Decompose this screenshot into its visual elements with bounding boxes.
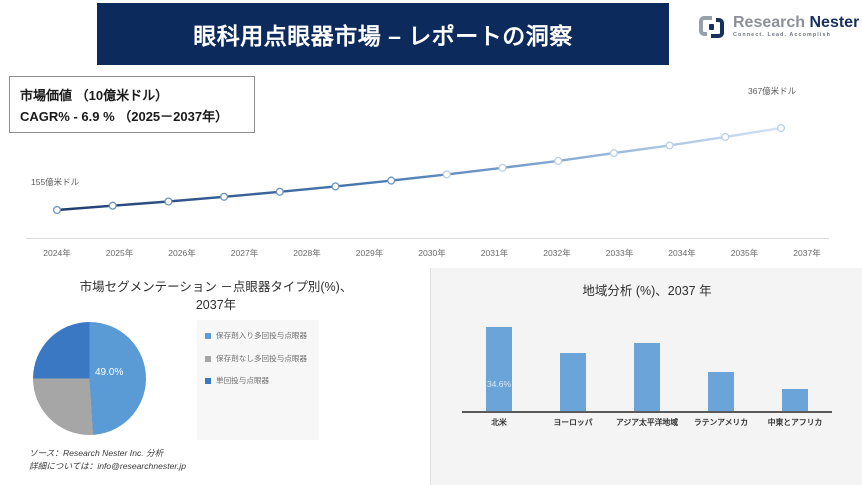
year-tick-label: 2035年: [731, 247, 758, 259]
line-chart-year-labels: 2024年2025年2026年2027年2028年2029年2030年2031年…: [26, 247, 829, 263]
year-tick-label: 2028年: [293, 247, 320, 259]
logo-mark-icon: [697, 14, 726, 40]
line-chart-end-value: 367億米ドル: [748, 85, 796, 97]
logo-word-nester: Nester: [810, 14, 860, 31]
legend-item-label: 保存剤なし多回投与点眼器: [216, 353, 307, 365]
bar-value-label: 34.6%: [487, 379, 511, 389]
page-title: 眼科用点眼器市場 – レポートの洞察: [193, 17, 573, 51]
infographic-page: 眼科用点眼器市場 – レポートの洞察 Research Nester Conne…: [0, 0, 862, 485]
bar-chart-axis: [462, 411, 832, 413]
legend-item[interactable]: 保存剤入り多回投与点眼器: [205, 330, 311, 342]
year-tick-label: 2037年: [793, 247, 820, 259]
year-tick-label: 2027年: [231, 247, 258, 259]
year-tick-label: 2034年: [668, 247, 695, 259]
bar-category-label: ヨーロッパ: [554, 417, 593, 428]
segmentation-panel: 市場セグメンテーション －点眼器タイプ別(%)、 2037年 49.0% 保存剤…: [0, 268, 430, 485]
line-data-point: [388, 177, 395, 184]
regional-analysis-panel: 地域分析 (%)、2037 年 34.6% 北米ヨーロッパアジア太平洋地域ラテン…: [430, 268, 862, 485]
research-nester-logo: Research Nester Connect. Lead. Accomplis…: [697, 14, 859, 40]
line-data-point: [221, 193, 228, 200]
bar-category-label: ラテンアメリカ: [694, 417, 748, 428]
line-data-point: [499, 164, 506, 171]
year-tick-label: 2025年: [106, 247, 133, 259]
line-data-point: [555, 158, 562, 165]
bar-column[interactable]: [708, 372, 734, 411]
pie-slice-label: 49.0%: [95, 367, 123, 378]
line-chart-start-value: 155億米ドル: [31, 176, 79, 188]
bar-column[interactable]: 34.6%: [486, 327, 512, 411]
line-data-point: [611, 150, 618, 157]
year-tick-label: 2030年: [418, 247, 445, 259]
legend-swatch-icon: [205, 378, 211, 384]
line-data-point: [109, 202, 116, 209]
year-tick-label: 2031年: [481, 247, 508, 259]
year-tick-label: 2032年: [543, 247, 570, 259]
legend-item[interactable]: 保存剤なし多回投与点眼器: [205, 353, 311, 365]
regional-analysis-title: 地域分析 (%)、2037 年: [431, 280, 862, 299]
logo-text: Research Nester Connect. Lead. Accomplis…: [733, 15, 859, 38]
header-band: 眼科用点眼器市場 – レポートの洞察: [97, 3, 669, 65]
year-tick-label: 2024年: [43, 247, 70, 259]
segmentation-pie-chart: 49.0%: [33, 322, 146, 435]
bar-column[interactable]: [782, 389, 808, 411]
logo-tagline: Connect. Lead. Accomplish: [733, 33, 859, 38]
line-data-point: [276, 188, 283, 195]
source-line-1: ソース：Research Nester Inc. 分析: [29, 447, 186, 460]
bar-category-label: 中東とアフリカ: [768, 417, 823, 428]
bar-category-label: アジア太平洋地域: [616, 417, 678, 428]
pie-circle: [33, 322, 146, 435]
source-note: ソース：Research Nester Inc. 分析 詳細については：info…: [29, 447, 186, 472]
bar-category-label: 北米: [491, 417, 507, 428]
segmentation-title: 市場セグメンテーション －点眼器タイプ別(%)、 2037年: [26, 278, 406, 314]
line-data-point: [666, 142, 673, 149]
legend-swatch-icon: [205, 333, 211, 339]
line-chart-axis: [26, 238, 829, 239]
bar-chart-category-labels: 北米ヨーロッパアジア太平洋地域ラテンアメリカ中東とアフリカ: [462, 417, 832, 431]
legend-item-label: 単回投与点眼器: [216, 375, 269, 387]
pie-legend: 保存剤入り多回投与点眼器保存剤なし多回投与点眼器単回投与点眼器: [197, 320, 319, 440]
line-data-point: [722, 134, 729, 141]
line-data-point: [443, 171, 450, 178]
line-data-point: [165, 198, 172, 205]
segmentation-title-line1: 市場セグメンテーション －点眼器タイプ別(%)、: [26, 278, 406, 296]
line-data-point: [332, 183, 339, 190]
year-tick-label: 2033年: [606, 247, 633, 259]
bar-column[interactable]: [634, 343, 660, 411]
logo-wordmark: Research Nester: [733, 15, 859, 31]
segmentation-title-line2: 2037年: [26, 296, 406, 314]
market-forecast-line-chart: [0, 70, 862, 260]
year-tick-label: 2029年: [356, 247, 383, 259]
legend-item[interactable]: 単回投与点眼器: [205, 375, 311, 387]
source-line-2: 詳細については：info@researchnester.jp: [29, 460, 186, 473]
line-chart-svg: [0, 70, 862, 260]
legend-swatch-icon: [205, 356, 211, 362]
regional-bar-chart: 34.6%: [462, 314, 832, 411]
line-data-point: [54, 207, 61, 214]
line-data-point: [778, 125, 785, 132]
logo-word-research: Research: [733, 14, 805, 31]
year-tick-label: 2026年: [168, 247, 195, 259]
legend-item-label: 保存剤入り多回投与点眼器: [216, 330, 307, 342]
bar-column[interactable]: [560, 353, 586, 411]
